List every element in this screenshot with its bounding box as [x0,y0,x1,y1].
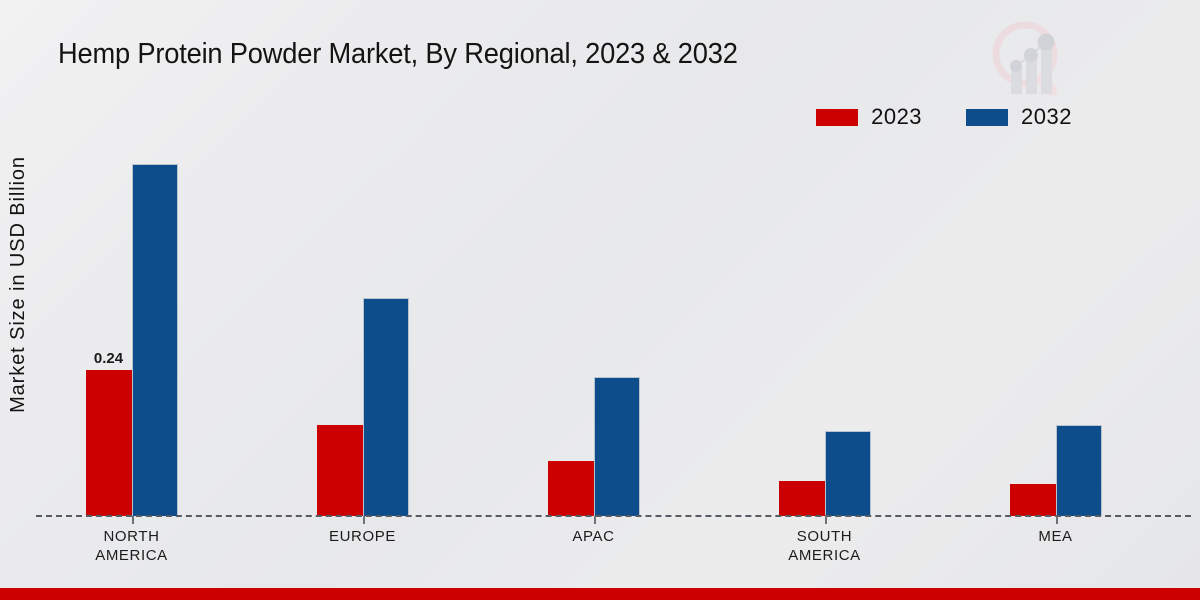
category-label: EUROPE [329,527,396,546]
axis-tick [825,516,827,524]
y-axis-title-label: Market Size in USD Billion [7,156,30,413]
bar-group [548,377,640,516]
bar-2023-south-america[interactable] [779,481,825,516]
category-label: MEA [1038,527,1072,546]
legend-label-2023: 2023 [871,104,922,130]
category-label: NORTH AMERICA [95,527,168,565]
watermark-logo-icon [985,14,1077,106]
axis-tick [132,516,134,524]
bar-2032-mea[interactable] [1056,425,1102,516]
category-label: APAC [572,527,614,546]
axis-tick [1056,516,1058,524]
legend-item-2032[interactable]: 2032 [966,104,1072,130]
chart-figure: Hemp Protein Powder Market, By Regional,… [0,0,1200,600]
bar-2032-north-america[interactable] [132,164,178,516]
axis-baseline [36,515,1191,517]
chart-title: Hemp Protein Powder Market, By Regional,… [58,34,738,74]
axis-tick [363,516,365,524]
bar-2023-europe[interactable] [317,425,363,516]
chart-legend: 2023 2032 [816,104,1072,130]
bar-2032-south-america[interactable] [825,431,871,516]
y-axis-title: Market Size in USD Billion [0,0,36,600]
bar-group [317,298,409,516]
category-label: SOUTH AMERICA [788,527,861,565]
plot-area: 0.24 [36,140,1191,516]
axis-tick [594,516,596,524]
legend-swatch-2032 [966,109,1008,126]
bar-group [1010,425,1102,516]
bar-2023-mea[interactable] [1010,484,1056,516]
bar-2023-north-america[interactable]: 0.24 [86,370,132,516]
bar-2032-europe[interactable] [363,298,409,516]
footer-accent-bar [0,588,1200,600]
bar-value-label: 0.24 [94,350,123,367]
bar-group [779,431,871,516]
legend-swatch-2023 [816,109,858,126]
legend-label-2032: 2032 [1021,104,1072,130]
bar-group: 0.24 [86,164,178,516]
legend-item-2023[interactable]: 2023 [816,104,922,130]
bar-2032-apac[interactable] [594,377,640,516]
bar-2023-apac[interactable] [548,461,594,516]
